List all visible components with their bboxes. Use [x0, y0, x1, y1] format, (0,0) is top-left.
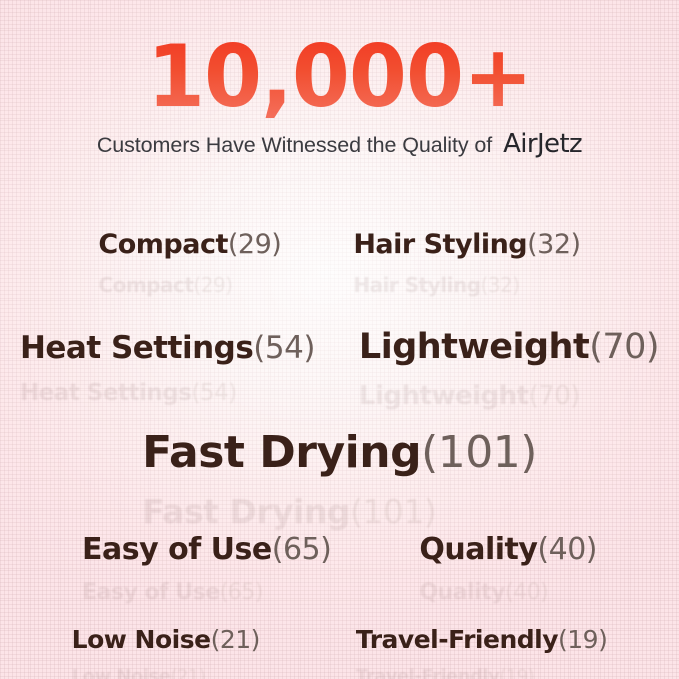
term-hair-styling: Hair Styling(32) — [353, 229, 580, 260]
term-count: (54) — [253, 330, 315, 366]
term-echo-count: (29) — [193, 273, 232, 297]
term-low-noise: Low Noise(21) — [72, 625, 260, 654]
word-cloud-row: Fast Drying(101) Fast Drying(101) — [0, 427, 679, 532]
word-cloud-row: Heat Settings(54) Heat Settings(54) Ligh… — [0, 327, 679, 427]
term-easy-of-use: Easy of Use(65) — [82, 532, 331, 567]
term-heat-settings: Heat Settings(54) — [20, 330, 315, 366]
term-quality: Quality(40) — [419, 532, 597, 567]
term-echo-low-noise: Low Noise(21) — [72, 666, 206, 679]
term-lightweight: Lightweight(70) — [359, 327, 659, 367]
term-echo-label: Travel-Friendly — [356, 666, 499, 679]
term-label: Compact — [98, 229, 227, 260]
word-cloud-item-quality: Quality(40) Quality(40) — [419, 532, 597, 567]
word-cloud-row: Easy of Use(65) Easy of Use(65) Quality(… — [0, 532, 679, 625]
term-count: (65) — [272, 532, 332, 567]
word-cloud-item-lightweight: Lightweight(70) Lightweight(70) — [359, 327, 659, 367]
term-echo-count: (40) — [505, 580, 548, 605]
word-cloud-item-easy-of-use: Easy of Use(65) Easy of Use(65) — [82, 532, 331, 567]
term-echo-count: (21) — [170, 666, 205, 679]
term-count: (40) — [537, 532, 597, 567]
term-echo-fast-drying: Fast Drying(101) — [142, 492, 436, 531]
term-echo-heat-settings: Heat Settings(54) — [20, 380, 237, 406]
subtitle-text: Customers Have Witnessed the Quality of — [97, 133, 492, 158]
term-echo-label: Fast Drying — [142, 492, 350, 531]
term-echo-count: (32) — [481, 273, 520, 297]
term-echo-count: (19) — [499, 666, 534, 679]
brand-logo-airjetz: AirJetz — [503, 129, 582, 159]
term-count: (21) — [211, 625, 260, 654]
term-echo-label: Compact — [98, 273, 193, 297]
word-cloud-item-compact: Compact(29) Compact(29) — [98, 229, 281, 260]
term-echo-count: (70) — [529, 381, 580, 411]
term-label: Fast Drying — [142, 427, 421, 478]
term-count: (70) — [589, 327, 659, 367]
headline-customer-count: 10,000+ — [10, 34, 669, 120]
term-echo-label: Low Noise — [72, 666, 171, 679]
term-echo-label: Easy of Use — [82, 580, 220, 605]
word-cloud-item-low-noise: Low Noise(21) Low Noise(21) — [72, 625, 260, 654]
term-echo-label: Hair Styling — [353, 273, 480, 297]
term-label: Hair Styling — [353, 229, 527, 260]
term-count: (19) — [558, 625, 607, 654]
term-echo-label: Heat Settings — [20, 380, 191, 406]
term-echo-label: Lightweight — [359, 381, 529, 411]
term-echo-count: (101) — [350, 492, 436, 531]
term-echo-quality: Quality(40) — [419, 580, 548, 605]
term-label: Travel-Friendly — [356, 625, 558, 654]
term-compact: Compact(29) — [98, 229, 281, 260]
term-count: (32) — [527, 229, 580, 260]
term-travel-friendly: Travel-Friendly(19) — [356, 625, 607, 654]
term-label: Heat Settings — [20, 330, 253, 366]
term-echo-count: (65) — [220, 580, 263, 605]
term-count: (101) — [421, 427, 537, 478]
header-block: 10,000+ Customers Have Witnessed the Qua… — [0, 0, 679, 159]
term-count: (29) — [228, 229, 281, 260]
subtitle-row: Customers Have Witnessed the Quality of … — [0, 129, 679, 159]
term-label: Lightweight — [359, 327, 589, 367]
term-echo-hair-styling: Hair Styling(32) — [353, 273, 519, 297]
promo-infographic: 10,000+ Customers Have Witnessed the Qua… — [0, 0, 679, 679]
term-label: Quality — [419, 532, 537, 567]
term-label: Easy of Use — [82, 532, 272, 567]
word-cloud-item-hair-styling: Hair Styling(32) Hair Styling(32) — [353, 229, 580, 260]
word-cloud-item-travel-friendly: Travel-Friendly(19) Travel-Friendly(19) — [356, 625, 607, 654]
word-cloud-row: Low Noise(21) Low Noise(21) Travel-Frien… — [0, 625, 679, 679]
term-echo-easy-of-use: Easy of Use(65) — [82, 580, 263, 605]
term-echo-count: (54) — [191, 380, 236, 406]
word-cloud-item-fast-drying: Fast Drying(101) Fast Drying(101) — [142, 427, 537, 478]
term-label: Low Noise — [72, 625, 211, 654]
term-echo-label: Quality — [419, 580, 505, 605]
feature-word-cloud: Compact(29) Compact(29) Hair Styling(32)… — [0, 205, 679, 679]
term-echo-travel-friendly: Travel-Friendly(19) — [356, 666, 534, 679]
term-fast-drying: Fast Drying(101) — [142, 427, 537, 478]
term-echo-lightweight: Lightweight(70) — [359, 381, 580, 411]
term-echo-compact: Compact(29) — [98, 273, 232, 297]
word-cloud-row: Compact(29) Compact(29) Hair Styling(32)… — [0, 205, 679, 327]
word-cloud-item-heat-settings: Heat Settings(54) Heat Settings(54) — [20, 330, 315, 366]
